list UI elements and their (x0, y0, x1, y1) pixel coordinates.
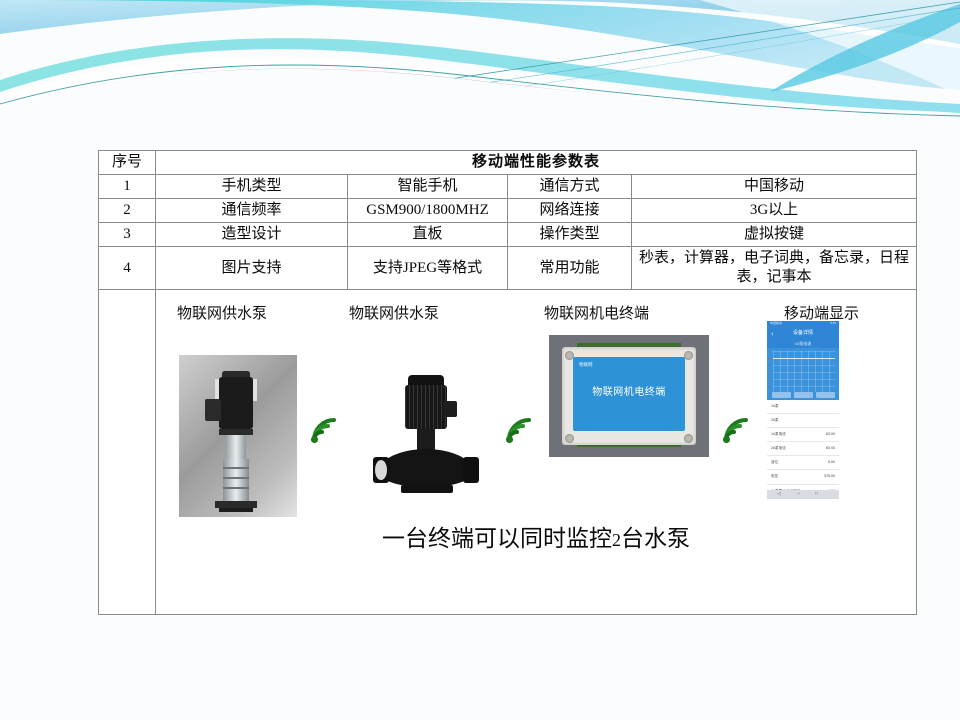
chart-range-button[interactable] (794, 392, 813, 398)
iot-system-diagram: 物联网供水泵 物联网供水泵 物联网机电终端 移动端显示 (159, 293, 913, 611)
status-time: 8:46 (830, 322, 836, 326)
chart-range-button[interactable] (772, 392, 791, 398)
phone-current-chart (767, 348, 839, 400)
row-key-1: 通信频率 (156, 199, 348, 223)
list-item-label: 电压 (771, 474, 778, 478)
row-value-1: 直板 (348, 223, 508, 247)
list-item-label: 2#泵 (771, 418, 779, 422)
row-value-1: 智能手机 (348, 175, 508, 199)
caption-pump-1: 物联网供水泵 (177, 305, 267, 324)
caption-text-pre: 一台终端可以同时监控 (382, 526, 612, 551)
slide: 序号 移动端性能参数表 1 手机类型 智能手机 通信方式 中国移动 2 通信频率… (0, 0, 960, 720)
diagram-cell: 物联网供水泵 物联网供水泵 物联网机电终端 移动端显示 (156, 290, 917, 615)
nav-recents-icon[interactable]: □ (815, 492, 818, 497)
list-item-label: 1#泵 (771, 404, 779, 408)
phone-nav-title: 设备详情 (767, 330, 839, 336)
table-row: 3 造型设计 直板 操作类型 虚拟按键 (99, 223, 917, 247)
list-item-label: 液位 (771, 460, 778, 464)
chart-series-line (773, 358, 835, 359)
list-item[interactable]: 1#泵 (767, 400, 839, 414)
photo-mobile-app-screenshot: 中国移动 8:46 ‹ 设备详情 1#泵电流 (767, 321, 839, 499)
status-carrier: 中国移动 (770, 322, 782, 326)
terminal-label-text: 物联网机电终端 (573, 387, 685, 400)
phone-subtitle-bar: 1#泵电流 (767, 340, 839, 348)
header-cell-index: 序号 (99, 151, 156, 175)
list-item-value: 375.00 (824, 474, 835, 478)
row-index: 4 (99, 247, 156, 290)
row-key-1: 图片支持 (156, 247, 348, 290)
photo-iot-terminal-device: 物联网 物联网机电终端 (549, 335, 709, 457)
row-value-2: 虚拟按键 (632, 223, 917, 247)
decorative-wave-banner (0, 0, 960, 118)
phone-subtitle: 1#泵电流 (767, 341, 839, 346)
row-index: 2 (99, 199, 156, 223)
terminal-blue-label: 物联网 物联网机电终端 (573, 357, 685, 431)
caption-text-post: 台水泵 (621, 526, 690, 551)
row-index: 1 (99, 175, 156, 199)
caption-pump-2: 物联网供水泵 (349, 305, 439, 324)
phone-parameter-list[interactable]: 1#泵 2#泵 1#泵电流 63.00 (767, 400, 839, 490)
caption-terminal: 物联网机电终端 (544, 305, 649, 324)
table-header-row: 序号 移动端性能参数表 (99, 151, 917, 175)
diagram-spacer-cell (99, 290, 156, 615)
table-title-cell: 移动端性能参数表 (156, 151, 917, 175)
mobile-parameter-table: 序号 移动端性能参数表 1 手机类型 智能手机 通信方式 中国移动 2 通信频率… (98, 150, 917, 615)
table-row: 2 通信频率 GSM900/1800MHZ 网络连接 3G以上 (99, 199, 917, 223)
row-value-2: 3G以上 (632, 199, 917, 223)
list-item-value: 63.00 (826, 432, 835, 436)
row-value-2: 秒表，计算器，电子词典，备忘录，日程表，记事本 (632, 247, 917, 290)
row-key-2: 网络连接 (508, 199, 632, 223)
row-value-2: 中国移动 (632, 175, 917, 199)
row-key-2: 操作类型 (508, 223, 632, 247)
row-key-1: 手机类型 (156, 175, 348, 199)
terminal-brand-text: 物联网 (579, 362, 593, 368)
list-item[interactable]: 1#泵电流 63.00 (767, 428, 839, 442)
phone-navigation-bar[interactable]: ◁ ○ □ (767, 490, 839, 499)
table-row: 1 手机类型 智能手机 通信方式 中国移动 (99, 175, 917, 199)
diagram-row: 物联网供水泵 物联网供水泵 物联网机电终端 移动端显示 (99, 290, 917, 615)
phone-status-bar: 中国移动 8:46 (767, 321, 839, 328)
diagram-bottom-caption: 一台终端可以同时监控2台水泵 (159, 525, 913, 554)
list-item[interactable]: 2#泵 (767, 414, 839, 428)
row-key-1: 造型设计 (156, 223, 348, 247)
list-item-label: 2#泵电流 (771, 446, 786, 450)
row-value-1: 支持JPEG等格式 (348, 247, 508, 290)
chart-range-button[interactable] (816, 392, 835, 398)
wifi-signal-icon (721, 415, 755, 445)
photo-inline-pump (367, 361, 485, 513)
list-item[interactable]: 液位 0.00 (767, 456, 839, 470)
photo-vertical-multistage-pump (179, 355, 297, 517)
caption-pump-count: 2 (612, 530, 621, 550)
row-key-2: 通信方式 (508, 175, 632, 199)
list-item-value: 0.00 (828, 460, 835, 464)
phone-nav-bar: ‹ 设备详情 (767, 328, 839, 340)
list-item-value: 60.00 (826, 446, 835, 450)
list-item-label: 1#泵电流 (771, 432, 786, 436)
chart-range-buttons[interactable] (772, 392, 835, 398)
row-index: 3 (99, 223, 156, 247)
wifi-signal-icon (309, 415, 343, 445)
nav-back-icon[interactable]: ◁ (777, 492, 781, 497)
row-key-2: 常用功能 (508, 247, 632, 290)
wifi-signal-icon (504, 415, 538, 445)
list-item[interactable]: 2#泵电流 60.00 (767, 442, 839, 456)
row-value-1: GSM900/1800MHZ (348, 199, 508, 223)
list-item[interactable]: 电压 375.00 (767, 470, 839, 484)
table-row: 4 图片支持 支持JPEG等格式 常用功能 秒表，计算器，电子词典，备忘录，日程… (99, 247, 917, 290)
nav-home-icon[interactable]: ○ (797, 492, 800, 497)
